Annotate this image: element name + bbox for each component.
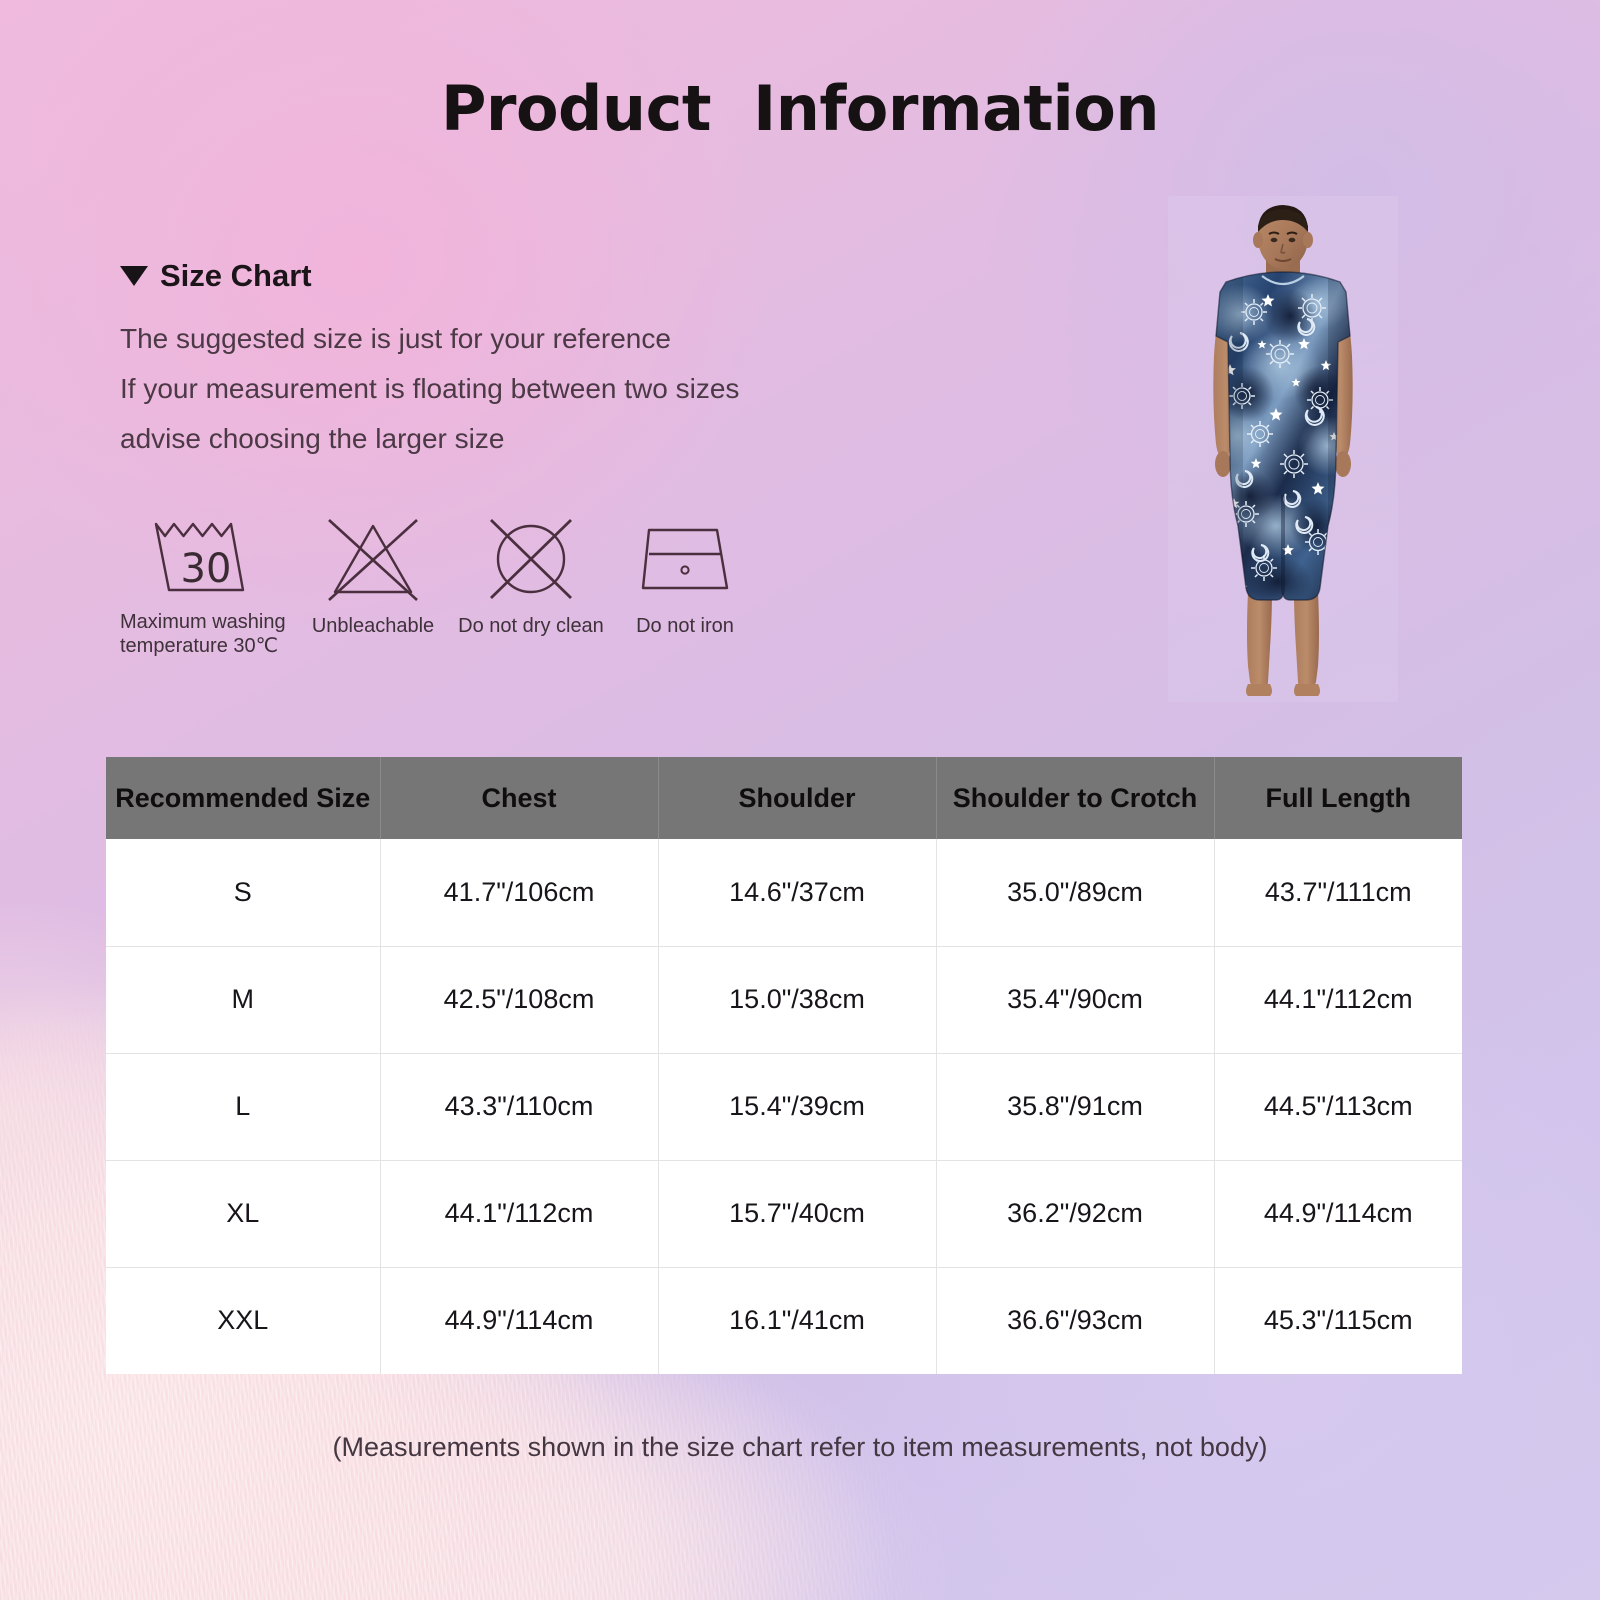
- cell-size: S: [106, 839, 380, 946]
- cell-full-length: 44.5"/113cm: [1214, 1053, 1462, 1160]
- triangle-down-icon: [120, 266, 148, 286]
- cell-chest: 43.3"/110cm: [380, 1053, 658, 1160]
- cell-shoulder: 16.1"/41cm: [658, 1267, 936, 1374]
- care-item-iron: Do not iron: [610, 512, 760, 638]
- size-chart-label: Size Chart: [160, 258, 312, 294]
- column-header-shoulder-to-crotch: Shoulder to Crotch: [936, 757, 1214, 839]
- column-header-recommended-size: Recommended Size: [106, 757, 380, 839]
- cell-size: XL: [106, 1160, 380, 1267]
- iron-icon: [633, 512, 737, 604]
- page-title: Product Information: [0, 72, 1600, 145]
- care-caption: Do not iron: [636, 614, 734, 638]
- product-model-photo: [1168, 196, 1398, 702]
- cell-size: M: [106, 946, 380, 1053]
- care-item-bleach: Unbleachable: [294, 512, 452, 638]
- care-caption: Do not dry clean: [458, 614, 604, 638]
- care-instructions-row: 30 Maximum washing temperature 30℃ Unble…: [118, 512, 760, 658]
- size-chart-table: Recommended Size Chest Shoulder Shoulder…: [106, 757, 1462, 1374]
- care-caption: Maximum washing temperature 30℃: [120, 610, 292, 658]
- measurement-footnote: (Measurements shown in the size chart re…: [0, 1432, 1600, 1463]
- cell-full-length: 43.7"/111cm: [1214, 839, 1462, 946]
- column-header-full-length: Full Length: [1214, 757, 1462, 839]
- cell-chest: 44.9"/114cm: [380, 1267, 658, 1374]
- cell-shoulder: 15.4"/39cm: [658, 1053, 936, 1160]
- do-not-dry-clean-circle-icon: [481, 512, 581, 604]
- table-row: L 43.3"/110cm 15.4"/39cm 35.8"/91cm 44.5…: [106, 1053, 1462, 1160]
- cell-chest: 44.1"/112cm: [380, 1160, 658, 1267]
- care-caption: Unbleachable: [312, 614, 434, 638]
- cell-shoulder-to-crotch: 35.8"/91cm: [936, 1053, 1214, 1160]
- size-note-line: The suggested size is just for your refe…: [120, 314, 980, 364]
- cell-shoulder-to-crotch: 35.4"/90cm: [936, 946, 1214, 1053]
- cell-shoulder: 15.0"/38cm: [658, 946, 936, 1053]
- cell-shoulder: 14.6"/37cm: [658, 839, 936, 946]
- cell-full-length: 44.9"/114cm: [1214, 1160, 1462, 1267]
- size-note-line: If your measurement is floating between …: [120, 364, 980, 414]
- care-item-washing: 30 Maximum washing temperature 30℃: [118, 512, 294, 658]
- table-row: XXL 44.9"/114cm 16.1"/41cm 36.6"/93cm 45…: [106, 1267, 1462, 1374]
- bleach-crossed-triangle-icon: [321, 512, 425, 604]
- product-information-page: Product Information Size Chart The sugge…: [0, 0, 1600, 1600]
- table-row: M 42.5"/108cm 15.0"/38cm 35.4"/90cm 44.1…: [106, 946, 1462, 1053]
- cell-chest: 42.5"/108cm: [380, 946, 658, 1053]
- cell-shoulder-to-crotch: 36.6"/93cm: [936, 1267, 1214, 1374]
- cell-chest: 41.7"/106cm: [380, 839, 658, 946]
- column-header-chest: Chest: [380, 757, 658, 839]
- size-chart-notes: The suggested size is just for your refe…: [120, 314, 980, 464]
- cell-size: XXL: [106, 1267, 380, 1374]
- table-header-row: Recommended Size Chest Shoulder Shoulder…: [106, 757, 1462, 839]
- cell-full-length: 45.3"/115cm: [1214, 1267, 1462, 1374]
- size-note-line: advise choosing the larger size: [120, 414, 980, 464]
- cell-shoulder-to-crotch: 35.0"/89cm: [936, 839, 1214, 946]
- cell-shoulder-to-crotch: 36.2"/92cm: [936, 1160, 1214, 1267]
- cell-size: L: [106, 1053, 380, 1160]
- column-header-shoulder: Shoulder: [658, 757, 936, 839]
- cell-full-length: 44.1"/112cm: [1214, 946, 1462, 1053]
- wash-tub-icon: 30: [150, 512, 262, 604]
- size-chart-heading: Size Chart: [120, 258, 312, 294]
- care-item-dry-clean: Do not dry clean: [452, 512, 610, 638]
- cell-shoulder: 15.7"/40cm: [658, 1160, 936, 1267]
- table-row: S 41.7"/106cm 14.6"/37cm 35.0"/89cm 43.7…: [106, 839, 1462, 946]
- wash-temperature-value: 30: [150, 546, 262, 592]
- table-row: XL 44.1"/112cm 15.7"/40cm 36.2"/92cm 44.…: [106, 1160, 1462, 1267]
